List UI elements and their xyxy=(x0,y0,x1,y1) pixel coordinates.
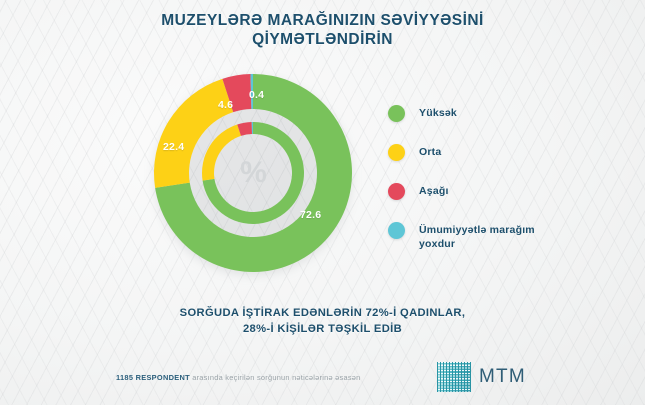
chart-legend: Yüksək Orta Aşağı Ümumiyyətlə marağım yo… xyxy=(388,104,578,272)
slice-label-yuksek: 72.6 xyxy=(300,209,321,221)
legend-label: Orta xyxy=(419,143,441,159)
donut-slice-1[interactable] xyxy=(202,124,241,180)
slice-label-orta: 22.4 xyxy=(163,141,184,153)
infographic-canvas: MUZEYLƏRƏ MARAĞINIZIN SƏVİYYƏSİNİ QİYMƏT… xyxy=(0,0,645,405)
legend-item-asagi[interactable]: Aşağı xyxy=(388,182,578,200)
legend-label: Aşağı xyxy=(419,182,449,198)
slice-label-asagi: 4.6 xyxy=(218,99,233,111)
legend-item-maragim-yoxdur[interactable]: Ümumiyyətlə marağım yoxdur xyxy=(388,221,578,251)
legend-item-yuksek[interactable]: Yüksək xyxy=(388,104,578,122)
mtm-logo: MTM xyxy=(437,362,526,392)
donut-chart-svg xyxy=(152,72,354,274)
legend-label: Yüksək xyxy=(419,104,457,120)
mtm-logo-text: MTM xyxy=(479,366,526,388)
subtitle-line-2: 28%-İ KİŞİLƏR TƏŞKİL EDİB xyxy=(0,321,645,337)
legend-label: Ümumiyyətlə marağım yoxdur xyxy=(419,221,539,251)
legend-dot-icon xyxy=(388,183,405,200)
donut-chart: % 72.6 22.4 4.6 0.4 xyxy=(152,72,354,274)
subtitle-line-1: SORĞUDA İŞTİRAK EDƏNLƏRİN 72%-İ QADINLAR… xyxy=(0,305,645,321)
legend-dot-icon xyxy=(388,222,405,239)
slice-label-maragim-yoxdur: 0.4 xyxy=(249,89,264,101)
title-line-1: MUZEYLƏRƏ MARAĞINIZIN SƏVİYYƏSİNİ xyxy=(0,11,645,30)
footer-respondent-count: 1185 RESPONDENT xyxy=(116,373,190,382)
donut-outer-ring xyxy=(154,74,352,272)
donut-inner-ring xyxy=(202,122,304,224)
title-line-2: QİYMƏTLƏNDİRİN xyxy=(0,30,645,49)
legend-dot-icon xyxy=(388,144,405,161)
footer-note-text: arasında keçirilən sorğunun nəticələrinə… xyxy=(190,373,361,382)
mtm-logo-mark-icon xyxy=(437,362,471,392)
legend-dot-icon xyxy=(388,105,405,122)
legend-item-orta[interactable]: Orta xyxy=(388,143,578,161)
subtitle: SORĞUDA İŞTİRAK EDƏNLƏRİN 72%-İ QADINLAR… xyxy=(0,305,645,337)
footer-note: 1185 RESPONDENT arasında keçirilən sorğu… xyxy=(116,373,361,382)
page-title: MUZEYLƏRƏ MARAĞINIZIN SƏVİYYƏSİNİ QİYMƏT… xyxy=(0,11,645,49)
